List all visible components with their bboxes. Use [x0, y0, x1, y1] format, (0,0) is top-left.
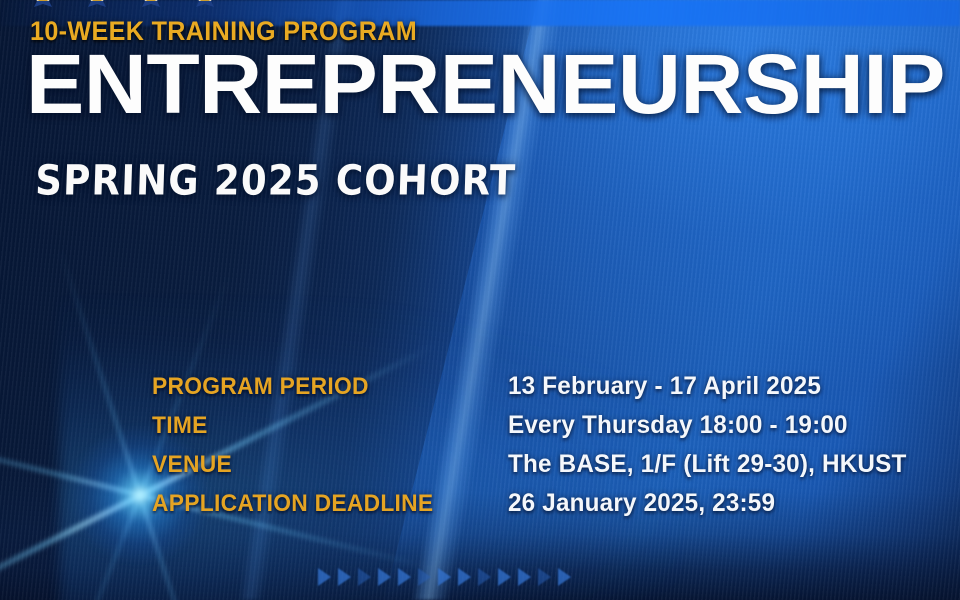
details-table: PROGRAM PERIOD 13 February - 17 April 20…: [152, 374, 919, 516]
detail-label-program-period: PROGRAM PERIOD: [152, 375, 490, 399]
poster-content: 10-WEEK TRAINING PROGRAM ENTREPRENEURSHI…: [0, 0, 960, 600]
page-title: ENTREPRENEURSHIP 101: [26, 42, 960, 126]
detail-label-application-deadline: APPLICATION DEADLINE: [152, 492, 490, 516]
cohort-subtitle: SPRING 2025 COHORT: [35, 160, 517, 201]
detail-value-program-period: 13 February - 17 April 2025: [508, 374, 906, 399]
poster: 10-WEEK TRAINING PROGRAM ENTREPRENEURSHI…: [0, 0, 960, 600]
detail-label-time: TIME: [152, 414, 490, 438]
detail-value-application-deadline: 26 January 2025, 23:59: [508, 491, 906, 516]
detail-label-venue: VENUE: [152, 453, 490, 477]
detail-value-time: Every Thursday 18:00 - 19:00: [508, 413, 906, 438]
detail-value-venue: The BASE, 1/F (Lift 29-30), HKUST: [508, 452, 906, 477]
